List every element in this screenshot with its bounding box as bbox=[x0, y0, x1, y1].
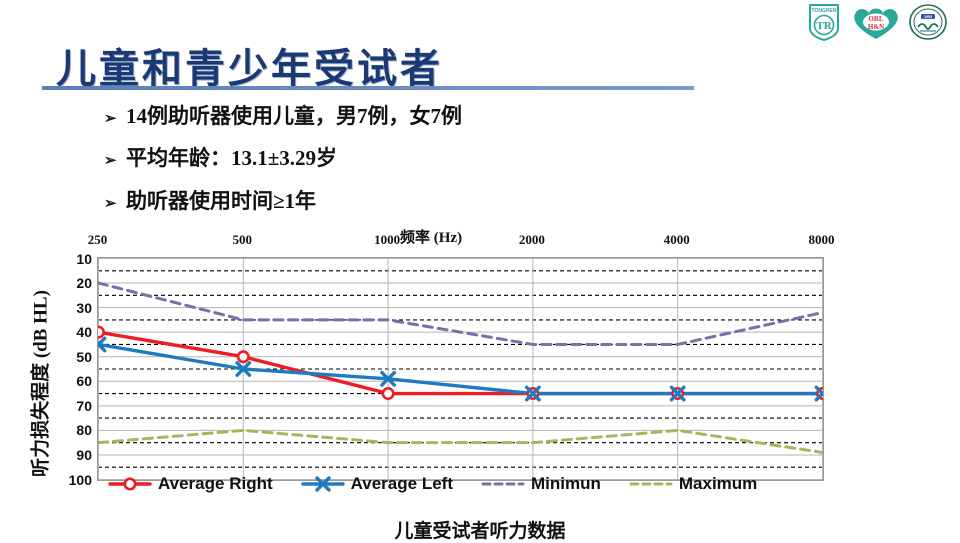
plot-area bbox=[97, 257, 824, 481]
y-tick-label: 10 bbox=[76, 251, 92, 267]
list-item-label: 14例助听器使用儿童，男7例，女7例 bbox=[126, 104, 462, 128]
chart-legend: Average RightAverage LeftMinimunMaximum bbox=[108, 474, 828, 494]
list-item: ➢ 平均年龄：13.1±3.29岁 bbox=[104, 146, 724, 170]
svg-text:H&N: H&N bbox=[868, 23, 884, 31]
svg-text:TONGREN: TONGREN bbox=[812, 8, 837, 14]
bullet-arrow-icon: ➢ bbox=[104, 196, 126, 213]
bullet-arrow-icon: ➢ bbox=[104, 153, 126, 170]
legend-swatch-dashed-line-icon bbox=[629, 475, 673, 493]
list-item-label: 平均年龄：13.1±3.29岁 bbox=[126, 146, 337, 170]
slide-canvas: TONGREN TR ORL H&N 1953 儿童和青少年受试者 ➢ 14例助… bbox=[0, 0, 960, 540]
y-tick-label: 70 bbox=[76, 398, 92, 414]
y-tick-labels: 102030405060708090100 bbox=[30, 257, 92, 481]
list-item: ➢ 助听器使用时间≥1年 bbox=[104, 189, 724, 213]
svg-text:1953: 1953 bbox=[924, 15, 932, 19]
chart-caption: 儿童受试者听力数据 bbox=[0, 516, 960, 543]
plot-svg bbox=[98, 258, 823, 480]
x-tick-label: 250 bbox=[88, 232, 108, 248]
svg-text:TR: TR bbox=[816, 20, 832, 32]
y-tick-label: 20 bbox=[76, 275, 92, 291]
title-underline bbox=[42, 86, 694, 90]
legend-item[interactable]: Minimun bbox=[481, 474, 601, 494]
bullet-arrow-icon: ➢ bbox=[104, 111, 126, 128]
x-axis-title: 频率 (Hz) bbox=[400, 226, 462, 247]
y-tick-label: 30 bbox=[76, 300, 92, 316]
legend-item[interactable]: Average Left bbox=[301, 474, 453, 494]
legend-label: Average Right bbox=[158, 474, 273, 494]
list-item-label: 助听器使用时间≥1年 bbox=[126, 189, 316, 213]
university-seal-logo: 1953 bbox=[908, 3, 948, 41]
legend-swatch-x-icon bbox=[301, 475, 345, 493]
y-tick-label: 80 bbox=[76, 422, 92, 438]
legend-swatch-circle-icon bbox=[108, 475, 152, 493]
svg-text:ORL: ORL bbox=[868, 15, 884, 23]
y-tick-label: 60 bbox=[76, 373, 92, 389]
tongren-logo: TONGREN TR bbox=[804, 2, 844, 42]
y-tick-label: 50 bbox=[76, 349, 92, 365]
bullet-list: ➢ 14例助听器使用儿童，男7例，女7例 ➢ 平均年龄：13.1±3.29岁 ➢… bbox=[104, 104, 724, 231]
legend-label: Average Left bbox=[351, 474, 453, 494]
y-tick-label: 40 bbox=[76, 324, 92, 340]
legend-item[interactable]: Average Right bbox=[108, 474, 273, 494]
x-tick-label: 4000 bbox=[664, 232, 690, 248]
legend-swatch-dashed-line-icon bbox=[481, 475, 525, 493]
x-tick-label: 500 bbox=[233, 232, 253, 248]
orl-hn-logo: ORL H&N bbox=[850, 3, 902, 41]
x-tick-label: 1000 bbox=[374, 232, 400, 248]
legend-label: Minimun bbox=[531, 474, 601, 494]
x-tick-label: 8000 bbox=[809, 232, 835, 248]
audiogram-chart: 频率 (Hz) 听力损失程度 (dB HL) 25050010002000400… bbox=[0, 224, 960, 540]
x-tick-label: 2000 bbox=[519, 232, 545, 248]
legend-label: Maximum bbox=[679, 474, 757, 494]
y-tick-label: 100 bbox=[69, 472, 92, 488]
legend-item[interactable]: Maximum bbox=[629, 474, 757, 494]
list-item: ➢ 14例助听器使用儿童，男7例，女7例 bbox=[104, 104, 724, 128]
logo-row: TONGREN TR ORL H&N 1953 bbox=[804, 2, 948, 42]
y-tick-label: 90 bbox=[76, 447, 92, 463]
